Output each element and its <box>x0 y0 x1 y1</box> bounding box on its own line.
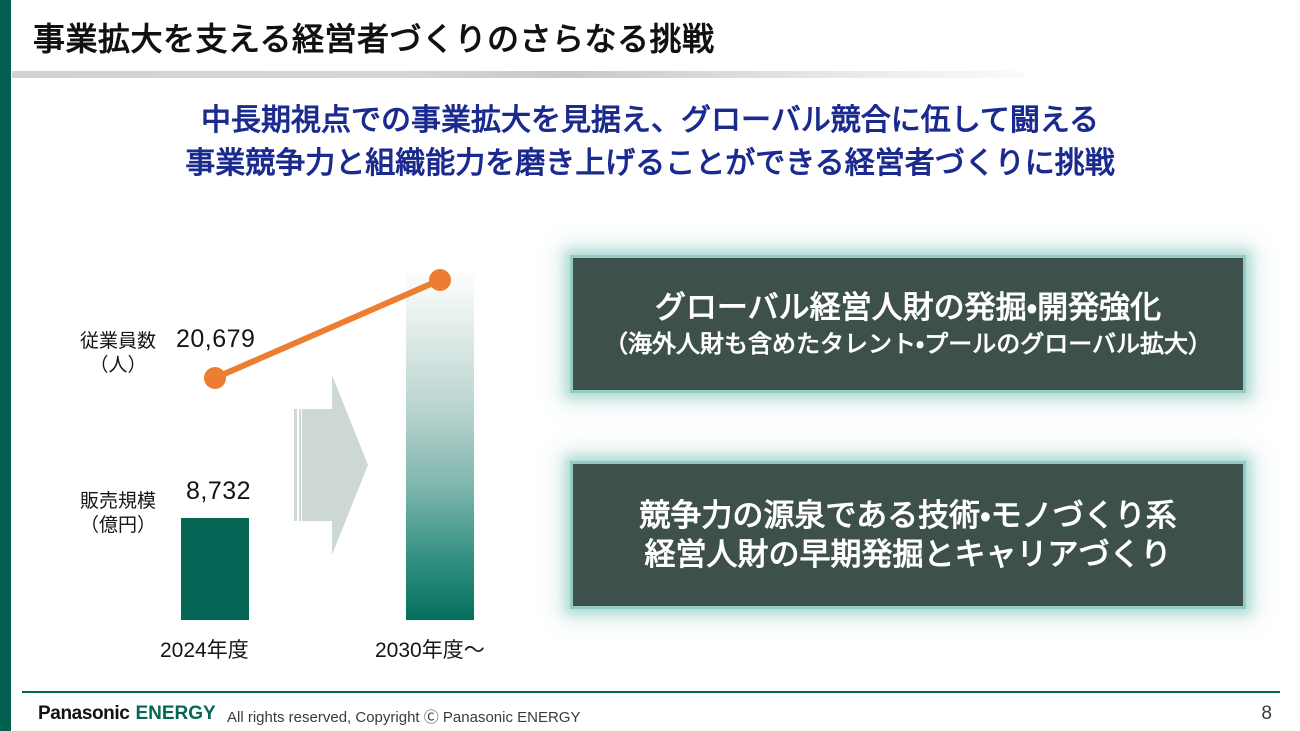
growth-chart: 従業員数 （人） 販売規模 （億円） 20,679 8,732 2024年度 2… <box>0 240 540 660</box>
page-title: 事業拡大を支える経営者づくりのさらなる挑戦 <box>33 14 715 60</box>
category-label-2024: 2024年度 <box>160 634 249 664</box>
category-label-2030: 2030年度〜 <box>375 634 485 664</box>
initiative-card-tech-talent: 競争力の源泉である技術・モノづくり系 経営人財の早期発掘とキャリアづくり <box>573 464 1243 606</box>
title-divider <box>12 71 1024 78</box>
employees-trend-line <box>0 240 540 660</box>
slide-canvas: 事業拡大を支える経営者づくりのさらなる挑戦 中長期視点での事業拡大を見据え、グロ… <box>0 0 1300 731</box>
footer-divider <box>22 691 1280 693</box>
subtitle-line-2: 事業競争力と組織能力を磨き上げることができる経営者づくりに挑戦 <box>0 143 1300 186</box>
initiative-card-1-title: グローバル経営人財の発掘・開発強化 <box>655 288 1161 327</box>
brand-logo: PanasonicENERGY <box>38 703 216 725</box>
subtitle-block: 中長期視点での事業拡大を見据え、グローバル競合に伍して闘える 事業競争力と組織能… <box>0 100 1300 185</box>
brand-logo-primary: Panasonic <box>38 703 129 724</box>
subtitle-line-1: 中長期視点での事業拡大を見据え、グローバル競合に伍して闘える <box>0 100 1300 143</box>
initiative-card-global-talent: グローバル経営人財の発掘・開発強化 （海外人財も含めたタレント・プールのグローバ… <box>573 258 1243 390</box>
brand-logo-secondary: ENERGY <box>135 703 215 724</box>
initiative-card-2-title: 競争力の源泉である技術・モノづくり系 経営人財の早期発掘とキャリアづくり <box>639 496 1176 574</box>
initiative-card-2-line2: 経営人財の早期発掘とキャリアづくり <box>639 535 1176 574</box>
initiative-card-1-subtitle: （海外人財も含めたタレント・プールのグローバル拡大） <box>604 329 1212 360</box>
trend-marker-2030 <box>429 269 451 291</box>
initiative-card-2-line1: 競争力の源泉である技術・モノづくり系 <box>639 496 1176 535</box>
copyright-text: All rights reserved, Copyright Ⓒ Panason… <box>227 706 580 727</box>
page-number: 8 <box>1261 703 1272 725</box>
trend-marker-2024 <box>204 367 226 389</box>
